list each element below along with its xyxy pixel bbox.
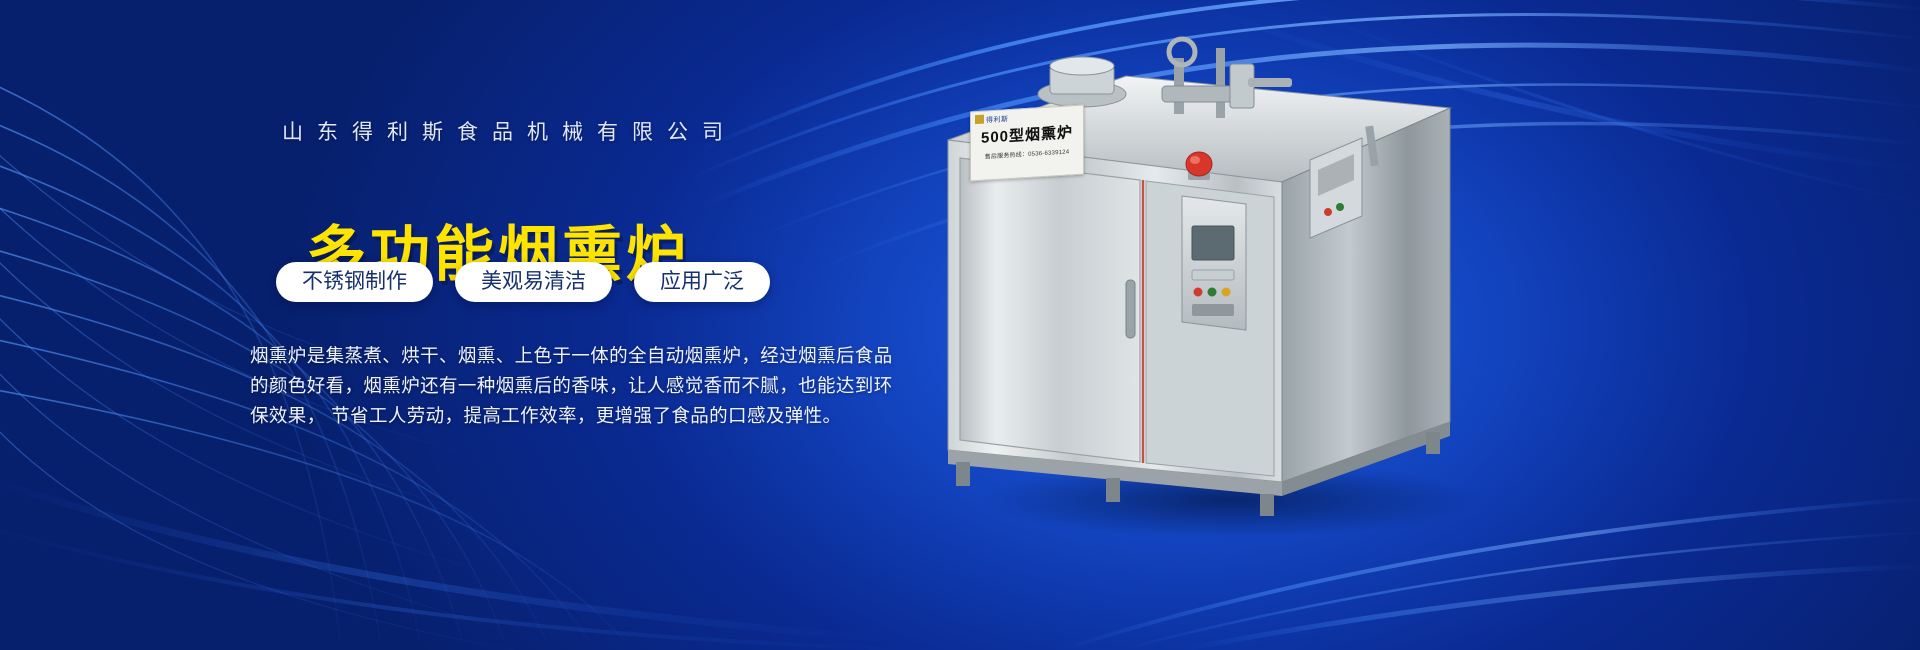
machine-nameplate: 得利斯 500型烟熏炉 售后服务热线：0536-6339124 — [970, 105, 1084, 182]
brand-logo-icon — [975, 115, 984, 125]
feature-pill-3[interactable]: 应用广泛 — [634, 262, 770, 302]
chimney-assembly — [1038, 57, 1126, 107]
banner-copy: 山东得利斯食品机械有限公司 多功能烟熏炉 不锈钢制作 美观易清洁 应用广泛 烟熏… — [0, 0, 900, 650]
control-panel — [1182, 196, 1246, 330]
product-description: 烟熏炉是集蒸煮、烘干、烟熏、上色于一体的全自动烟熏炉，经过烟熏后食品 的颜色好看… — [250, 341, 820, 431]
feature-pill-2[interactable]: 美观易清洁 — [455, 262, 612, 302]
company-name: 山东得利斯食品机械有限公司 — [282, 116, 737, 146]
description-line-2: 的颜色好看，烟熏炉还有一种烟熏后的香味，让人感觉香而不腻，也能达到环 — [250, 371, 820, 401]
hero-banner: 山东得利斯食品机械有限公司 多功能烟熏炉 不锈钢制作 美观易清洁 应用广泛 烟熏… — [0, 0, 1920, 650]
alarm-beacon — [1186, 152, 1212, 180]
description-line-3: 保效果， 节省工人劳动，提高工作效率，更增强了食品的口感及弹性。 — [250, 401, 820, 431]
product-photo: 得利斯 500型烟熏炉 售后服务热线：0536-6339124 — [930, 30, 1490, 550]
nameplate-hotline: 售后服务热线：0536-6339124 — [971, 146, 1083, 162]
power-indicator — [1194, 288, 1203, 297]
door-handle — [1126, 280, 1135, 338]
control-display — [1192, 226, 1234, 260]
description-line-1: 烟熏炉是集蒸煮、烘干、烟熏、上色于一体的全自动烟熏炉，经过烟熏后食品 — [250, 341, 820, 371]
feature-pill-list: 不锈钢制作 美观易清洁 应用广泛 — [276, 262, 770, 302]
feature-pill-1[interactable]: 不锈钢制作 — [276, 262, 433, 302]
